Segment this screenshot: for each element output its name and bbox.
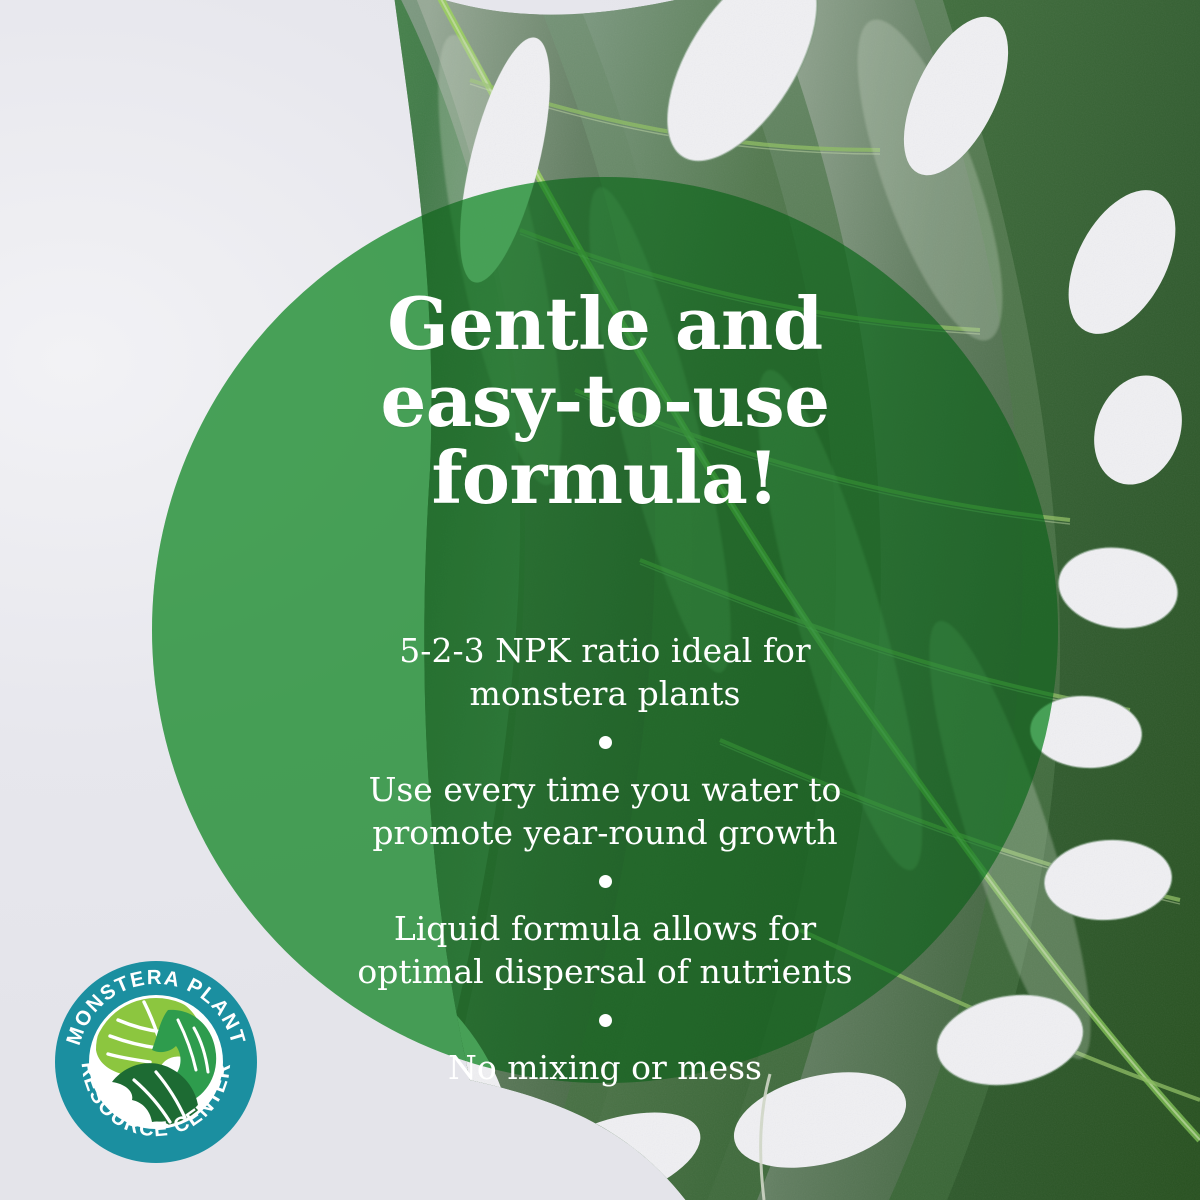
bullet-3-line-1: Liquid formula allows for [394,909,816,948]
feature-bullet-list: 5-2-3 NPK ratio ideal for monstera plant… [285,630,925,1089]
bullet-separator-dot-icon [599,736,612,749]
list-item: Liquid formula allows for optimal disper… [357,908,852,994]
headline-line-3: formula! [431,435,778,520]
headline-line-1: Gentle and [387,281,822,366]
poster-canvas: Gentle and easy-to-use formula! 5-2-3 NP… [0,0,1200,1200]
headline-line-2: easy-to-use [380,358,829,443]
bullet-1-line-1: 5-2-3 NPK ratio ideal for [399,631,810,670]
bullet-3-line-2: optimal dispersal of nutrients [357,952,852,991]
bullet-2-line-2: promote year-round growth [372,813,837,852]
list-item: Use every time you water to promote year… [369,769,842,855]
bullet-1-line-2: monstera plants [470,674,741,713]
logo-badge[interactable]: MONSTERA PLANT RESOURCE CENTER [52,958,260,1166]
page-title: Gentle and easy-to-use formula! [325,285,885,516]
poster-content: Gentle and easy-to-use formula! 5-2-3 NP… [152,177,1058,1083]
bullet-4-line-1: No mixing or mess [448,1048,762,1087]
bullet-separator-dot-icon [599,875,612,888]
bullet-2-line-1: Use every time you water to [369,770,842,809]
bullet-separator-dot-icon [599,1014,612,1027]
list-item: No mixing or mess [448,1047,762,1090]
list-item: 5-2-3 NPK ratio ideal for monstera plant… [399,630,810,716]
